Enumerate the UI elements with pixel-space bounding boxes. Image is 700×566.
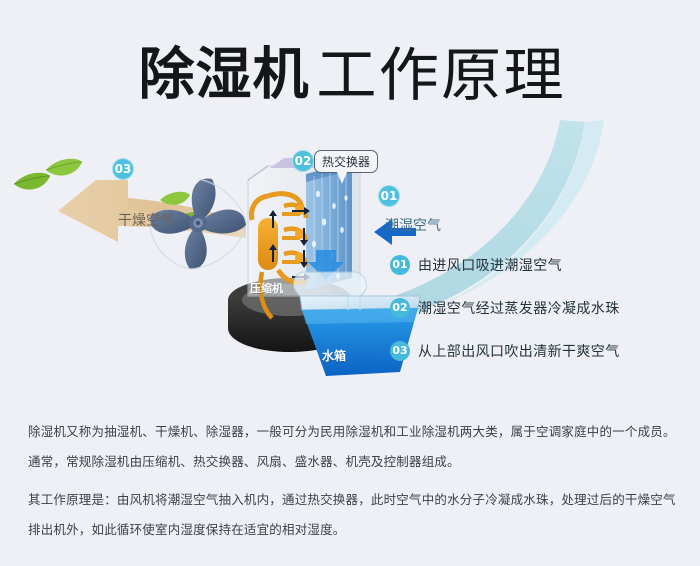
legend-item: 01 由进风口吸进潮湿空气 (390, 255, 690, 275)
diagram-badge-03: 03 (112, 158, 134, 180)
title-bold-part: 除湿机 (138, 43, 309, 108)
diagram-badge-01: 01 (378, 185, 400, 207)
water-tank-label: 水箱 (322, 347, 346, 364)
description-block: 除湿机又称为抽湿机、干燥机、除湿器，一般可分为民用除湿机和工业除湿机两大类，属于… (28, 420, 678, 548)
heat-exchanger-callout-label: 热交换器 (322, 155, 370, 169)
diagram-badge-02: 02 (292, 150, 314, 172)
paragraph-1-line-1: 除湿机又称为抽湿机、干燥机、除湿器，一般可分为民用除湿机和工业除湿机两大类，属于… (28, 420, 678, 444)
heat-exchanger-callout: 热交换器 (314, 150, 378, 173)
legend-badge-02: 02 (390, 298, 410, 318)
legend-item: 03 从上部出风口吹出清新干爽空气 (390, 341, 690, 361)
legend-text-01: 由进风口吸进潮湿空气 (418, 255, 562, 275)
humid-air-label: 潮湿空气 (385, 215, 441, 235)
infographic-page: 除湿机工作原理 (0, 0, 700, 566)
paragraph-2-line-2: 排出机外，如此循环使室内湿度保持在适宜的相对湿度。 (28, 518, 678, 542)
legend-badge-03: 03 (390, 341, 410, 361)
callout-tail-icon (337, 172, 347, 184)
tank-collar (293, 272, 366, 296)
legend-badge-01: 01 (390, 255, 410, 275)
dry-air-label: 干燥空气 (118, 210, 174, 230)
page-title: 除湿机工作原理 (0, 28, 700, 112)
paragraph-1-line-2: 通常，常规除湿机由压缩机、热交换器、风扇、盛水器、机壳及控制器组成。 (28, 450, 678, 474)
legend-text-03: 从上部出风口吹出清新干爽空气 (418, 341, 620, 361)
compressor-label: 压缩机 (250, 280, 283, 296)
paragraph-2-line-1: 其工作原理是：由风机将潮湿空气抽入机内，通过热交换器，此时空气中的水分子冷凝成水… (28, 488, 678, 512)
legend-text-02: 潮湿空气经过蒸发器冷凝成水珠 (418, 298, 620, 318)
title-light-part: 工作原理 (317, 28, 567, 112)
legend-item: 02 潮湿空气经过蒸发器冷凝成水珠 (390, 298, 690, 318)
steps-legend: 01 由进风口吸进潮湿空气 02 潮湿空气经过蒸发器冷凝成水珠 03 从上部出风… (390, 255, 690, 384)
